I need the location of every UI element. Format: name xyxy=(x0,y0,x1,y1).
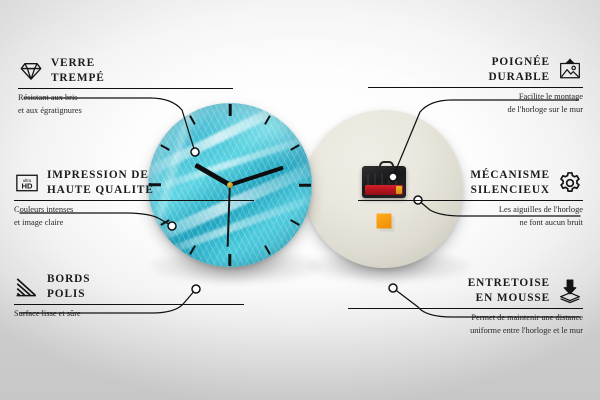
title-line-1: IMPRESSION DE xyxy=(47,168,154,183)
title-line-1: POIGNÉE xyxy=(488,55,550,70)
feature-verre-trempe: VERRE TREMPÉ Résistant aux bris et aux é… xyxy=(18,56,233,117)
feature-description: Permet de maintenir une distance uniform… xyxy=(348,312,583,336)
feature-header: VERRE TREMPÉ xyxy=(18,56,233,85)
feature-title: IMPRESSION DE HAUTE QUALITÉ xyxy=(47,168,154,197)
desc-line-1: Facilite le montage xyxy=(368,91,583,103)
title-line-2: DURABLE xyxy=(488,70,550,85)
feature-mecanisme-silencieux: MÉCANISME SILENCIEUX Les aiguilles de l'… xyxy=(358,168,583,229)
desc-line-2: ne font aucun bruit xyxy=(358,217,583,229)
infographic-canvas: VERRE TREMPÉ Résistant aux bris et aux é… xyxy=(0,0,600,400)
diagonal-lines-icon xyxy=(14,274,40,300)
title-line-2: SILENCIEUX xyxy=(470,183,550,198)
feature-description: Surface lisse et sûre xyxy=(14,308,244,320)
feature-title: BORDS POLIS xyxy=(47,272,90,301)
feature-description: Résistant aux bris et aux égratignures xyxy=(18,92,233,116)
divider xyxy=(18,88,233,89)
feature-title: MÉCANISME SILENCIEUX xyxy=(470,168,550,197)
feature-entretoise-en-mousse: ENTRETOISE EN MOUSSE Permet de maintenir… xyxy=(348,276,583,337)
title-line-1: VERRE xyxy=(51,56,105,71)
title-line-1: ENTRETOISE xyxy=(468,276,550,291)
desc-line-1: Surface lisse et sûre xyxy=(14,308,244,320)
divider xyxy=(368,87,583,88)
feature-header: MÉCANISME SILENCIEUX xyxy=(358,168,583,197)
feature-header: POIGNÉE DURABLE xyxy=(368,55,583,84)
feature-title: VERRE TREMPÉ xyxy=(51,56,105,85)
feature-title: POIGNÉE DURABLE xyxy=(488,55,550,84)
picture-frame-icon xyxy=(557,57,583,83)
arrow-down-stack-icon xyxy=(557,278,583,304)
svg-text:HD: HD xyxy=(21,181,33,190)
title-line-2: EN MOUSSE xyxy=(468,291,550,306)
ultra-hd-icon: ultra HD xyxy=(14,170,40,196)
desc-line-1: Permet de maintenir une distance xyxy=(348,312,583,324)
feature-impression-haute-qualite: ultra HD IMPRESSION DE HAUTE QUALITÉ Cou… xyxy=(14,168,254,229)
desc-line-2: de l'horloge sur le mur xyxy=(368,104,583,116)
divider xyxy=(14,200,254,201)
desc-line-1: Résistant aux bris xyxy=(18,92,233,104)
gear-icon xyxy=(557,170,583,196)
feature-header: BORDS POLIS xyxy=(14,272,244,301)
feature-title: ENTRETOISE EN MOUSSE xyxy=(468,276,550,305)
feature-description: Facilite le montage de l'horloge sur le … xyxy=(368,91,583,115)
diamond-icon xyxy=(18,58,44,84)
feature-description: Couleurs intenses et image claire xyxy=(14,204,254,228)
feature-poignee-durable: POIGNÉE DURABLE Facilite le montage de l… xyxy=(368,55,583,116)
feature-header: ultra HD IMPRESSION DE HAUTE QUALITÉ xyxy=(14,168,254,197)
desc-line-1: Les aiguilles de l'horloge xyxy=(358,204,583,216)
desc-line-1: Couleurs intenses xyxy=(14,204,254,216)
feature-description: Les aiguilles de l'horloge ne font aucun… xyxy=(358,204,583,228)
feature-header: ENTRETOISE EN MOUSSE xyxy=(348,276,583,305)
feature-bords-polis: BORDS POLIS Surface lisse et sûre xyxy=(14,272,244,321)
title-line-1: MÉCANISME xyxy=(470,168,550,183)
title-line-2: HAUTE QUALITÉ xyxy=(47,183,154,198)
divider xyxy=(358,200,583,201)
desc-line-2: et image claire xyxy=(14,217,254,229)
node-verre xyxy=(191,148,199,156)
desc-line-2: uniforme entre l'horloge et le mur xyxy=(348,325,583,337)
title-line-1: BORDS xyxy=(47,272,90,287)
title-line-2: POLIS xyxy=(47,287,90,302)
title-line-2: TREMPÉ xyxy=(51,71,105,86)
divider xyxy=(14,304,244,305)
desc-line-2: et aux égratignures xyxy=(18,105,233,117)
divider xyxy=(348,308,583,309)
